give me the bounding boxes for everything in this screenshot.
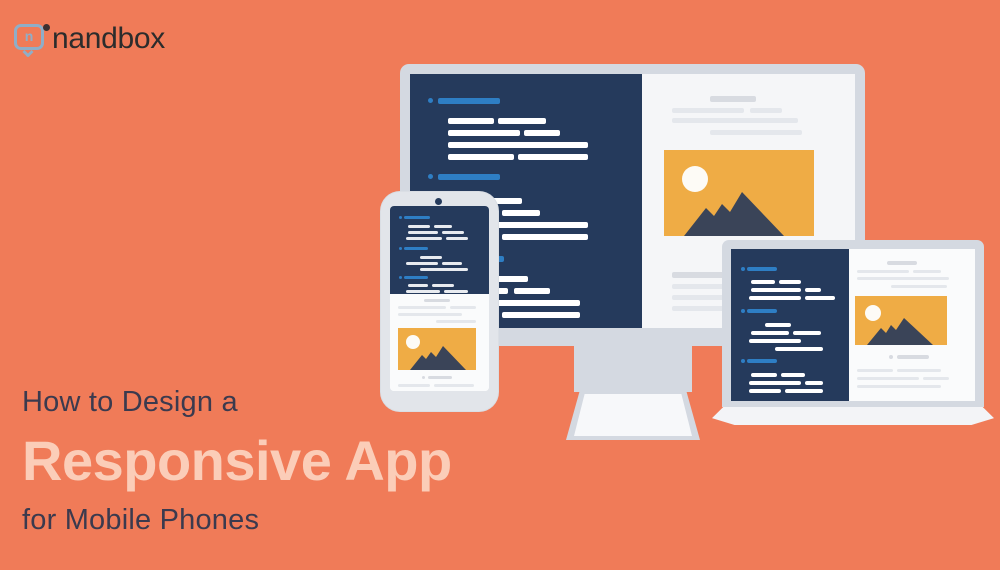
code-header-bar xyxy=(404,216,430,219)
content-heading-bar xyxy=(887,261,917,265)
code-line-bar xyxy=(442,231,464,234)
content-text-bar xyxy=(891,285,947,288)
code-line-bar xyxy=(805,296,835,300)
code-bullet-dot xyxy=(399,247,402,250)
content-text-bar xyxy=(857,377,919,380)
content-text-bar xyxy=(857,277,949,280)
code-line-bar xyxy=(448,154,514,160)
content-text-bar xyxy=(923,377,949,380)
responsive-devices-illustration xyxy=(0,0,1000,570)
code-line-bar xyxy=(448,130,520,136)
code-header-bar xyxy=(747,359,777,363)
laptop-content-panel xyxy=(849,249,975,401)
content-text-bar xyxy=(857,369,893,372)
code-bullet-dot xyxy=(741,267,745,271)
content-text-bar xyxy=(434,384,474,387)
code-bullet-dot xyxy=(399,276,402,279)
content-heading-bar xyxy=(710,96,756,102)
code-line-bar xyxy=(749,339,801,343)
phone-content-panel xyxy=(390,294,489,391)
content-heading-bar xyxy=(897,355,929,359)
code-line-bar xyxy=(805,288,821,292)
content-text-bar xyxy=(710,130,802,135)
code-header-bar xyxy=(404,276,428,279)
code-line-bar xyxy=(524,130,560,136)
laptop-code-panel xyxy=(731,249,849,401)
laptop-bezel xyxy=(722,240,984,407)
content-bullet-dot xyxy=(889,355,893,359)
code-line-bar xyxy=(775,347,823,351)
phone-screen xyxy=(390,206,489,391)
code-header-bar xyxy=(404,247,428,250)
monitor-stand-base-inner xyxy=(574,394,692,436)
content-text-bar xyxy=(857,270,909,273)
content-text-bar xyxy=(436,320,476,323)
code-header-bar xyxy=(438,174,500,180)
code-line-bar xyxy=(751,373,777,377)
content-text-bar xyxy=(913,270,941,273)
content-text-bar xyxy=(750,108,782,113)
page-canvas: n nandbox How to Design a Responsive App… xyxy=(0,0,1000,570)
code-line-bar xyxy=(502,312,580,318)
monitor-neck xyxy=(574,346,692,392)
content-image-placeholder xyxy=(664,150,814,236)
content-text-bar xyxy=(398,306,446,309)
code-line-bar xyxy=(420,256,442,259)
code-line-bar xyxy=(444,290,468,293)
code-line-bar xyxy=(514,288,550,294)
code-bullet-dot xyxy=(399,216,402,219)
code-line-bar xyxy=(765,323,791,327)
phone-camera-icon xyxy=(435,198,442,205)
content-text-bar xyxy=(897,369,941,372)
tablet-laptop xyxy=(722,240,984,407)
code-line-bar xyxy=(434,225,452,228)
code-line-bar xyxy=(448,142,588,148)
code-line-bar xyxy=(749,296,801,300)
phone-bezel xyxy=(381,192,498,411)
mountain-icon xyxy=(867,314,947,345)
code-line-bar xyxy=(408,284,428,287)
code-line-bar xyxy=(785,389,823,393)
code-bullet-dot xyxy=(741,309,745,313)
code-line-bar xyxy=(406,290,440,293)
code-line-bar xyxy=(793,331,821,335)
content-bullet-dot xyxy=(422,376,425,379)
code-bullet-dot xyxy=(428,98,433,103)
mobile-phone xyxy=(381,192,498,411)
code-line-bar xyxy=(446,237,468,240)
code-line-bar xyxy=(432,284,454,287)
content-text-bar xyxy=(672,118,798,123)
code-line-bar xyxy=(749,381,801,385)
content-heading-bar xyxy=(424,299,450,302)
laptop-base xyxy=(712,407,994,425)
content-text-bar xyxy=(398,313,462,316)
code-line-bar xyxy=(498,118,546,124)
code-bullet-dot xyxy=(428,174,433,179)
code-header-bar xyxy=(747,267,777,271)
mountain-icon xyxy=(684,186,814,236)
content-image-placeholder xyxy=(398,328,476,370)
code-line-bar xyxy=(442,262,462,265)
code-line-bar xyxy=(749,389,781,393)
code-header-bar xyxy=(438,98,500,104)
phone-code-panel xyxy=(390,206,489,294)
code-line-bar xyxy=(502,210,540,216)
content-text-bar xyxy=(450,306,476,309)
code-line-bar xyxy=(518,154,588,160)
code-line-bar xyxy=(408,225,430,228)
code-line-bar xyxy=(408,231,438,234)
code-header-bar xyxy=(747,309,777,313)
code-line-bar xyxy=(751,280,775,284)
code-line-bar xyxy=(751,331,789,335)
mountain-icon xyxy=(410,343,476,370)
code-line-bar xyxy=(779,280,801,284)
content-heading-bar xyxy=(428,376,452,379)
code-line-bar xyxy=(502,234,588,240)
code-bullet-dot xyxy=(741,359,745,363)
code-line-bar xyxy=(420,268,468,271)
code-line-bar xyxy=(448,118,494,124)
code-line-bar xyxy=(781,373,805,377)
laptop-screen xyxy=(731,249,975,401)
content-text-bar xyxy=(672,108,744,113)
code-line-bar xyxy=(805,381,823,385)
code-line-bar xyxy=(751,288,801,292)
code-line-bar xyxy=(406,237,442,240)
content-image-placeholder xyxy=(855,296,947,345)
code-line-bar xyxy=(406,262,438,265)
content-text-bar xyxy=(398,384,430,387)
content-text-bar xyxy=(857,385,941,388)
